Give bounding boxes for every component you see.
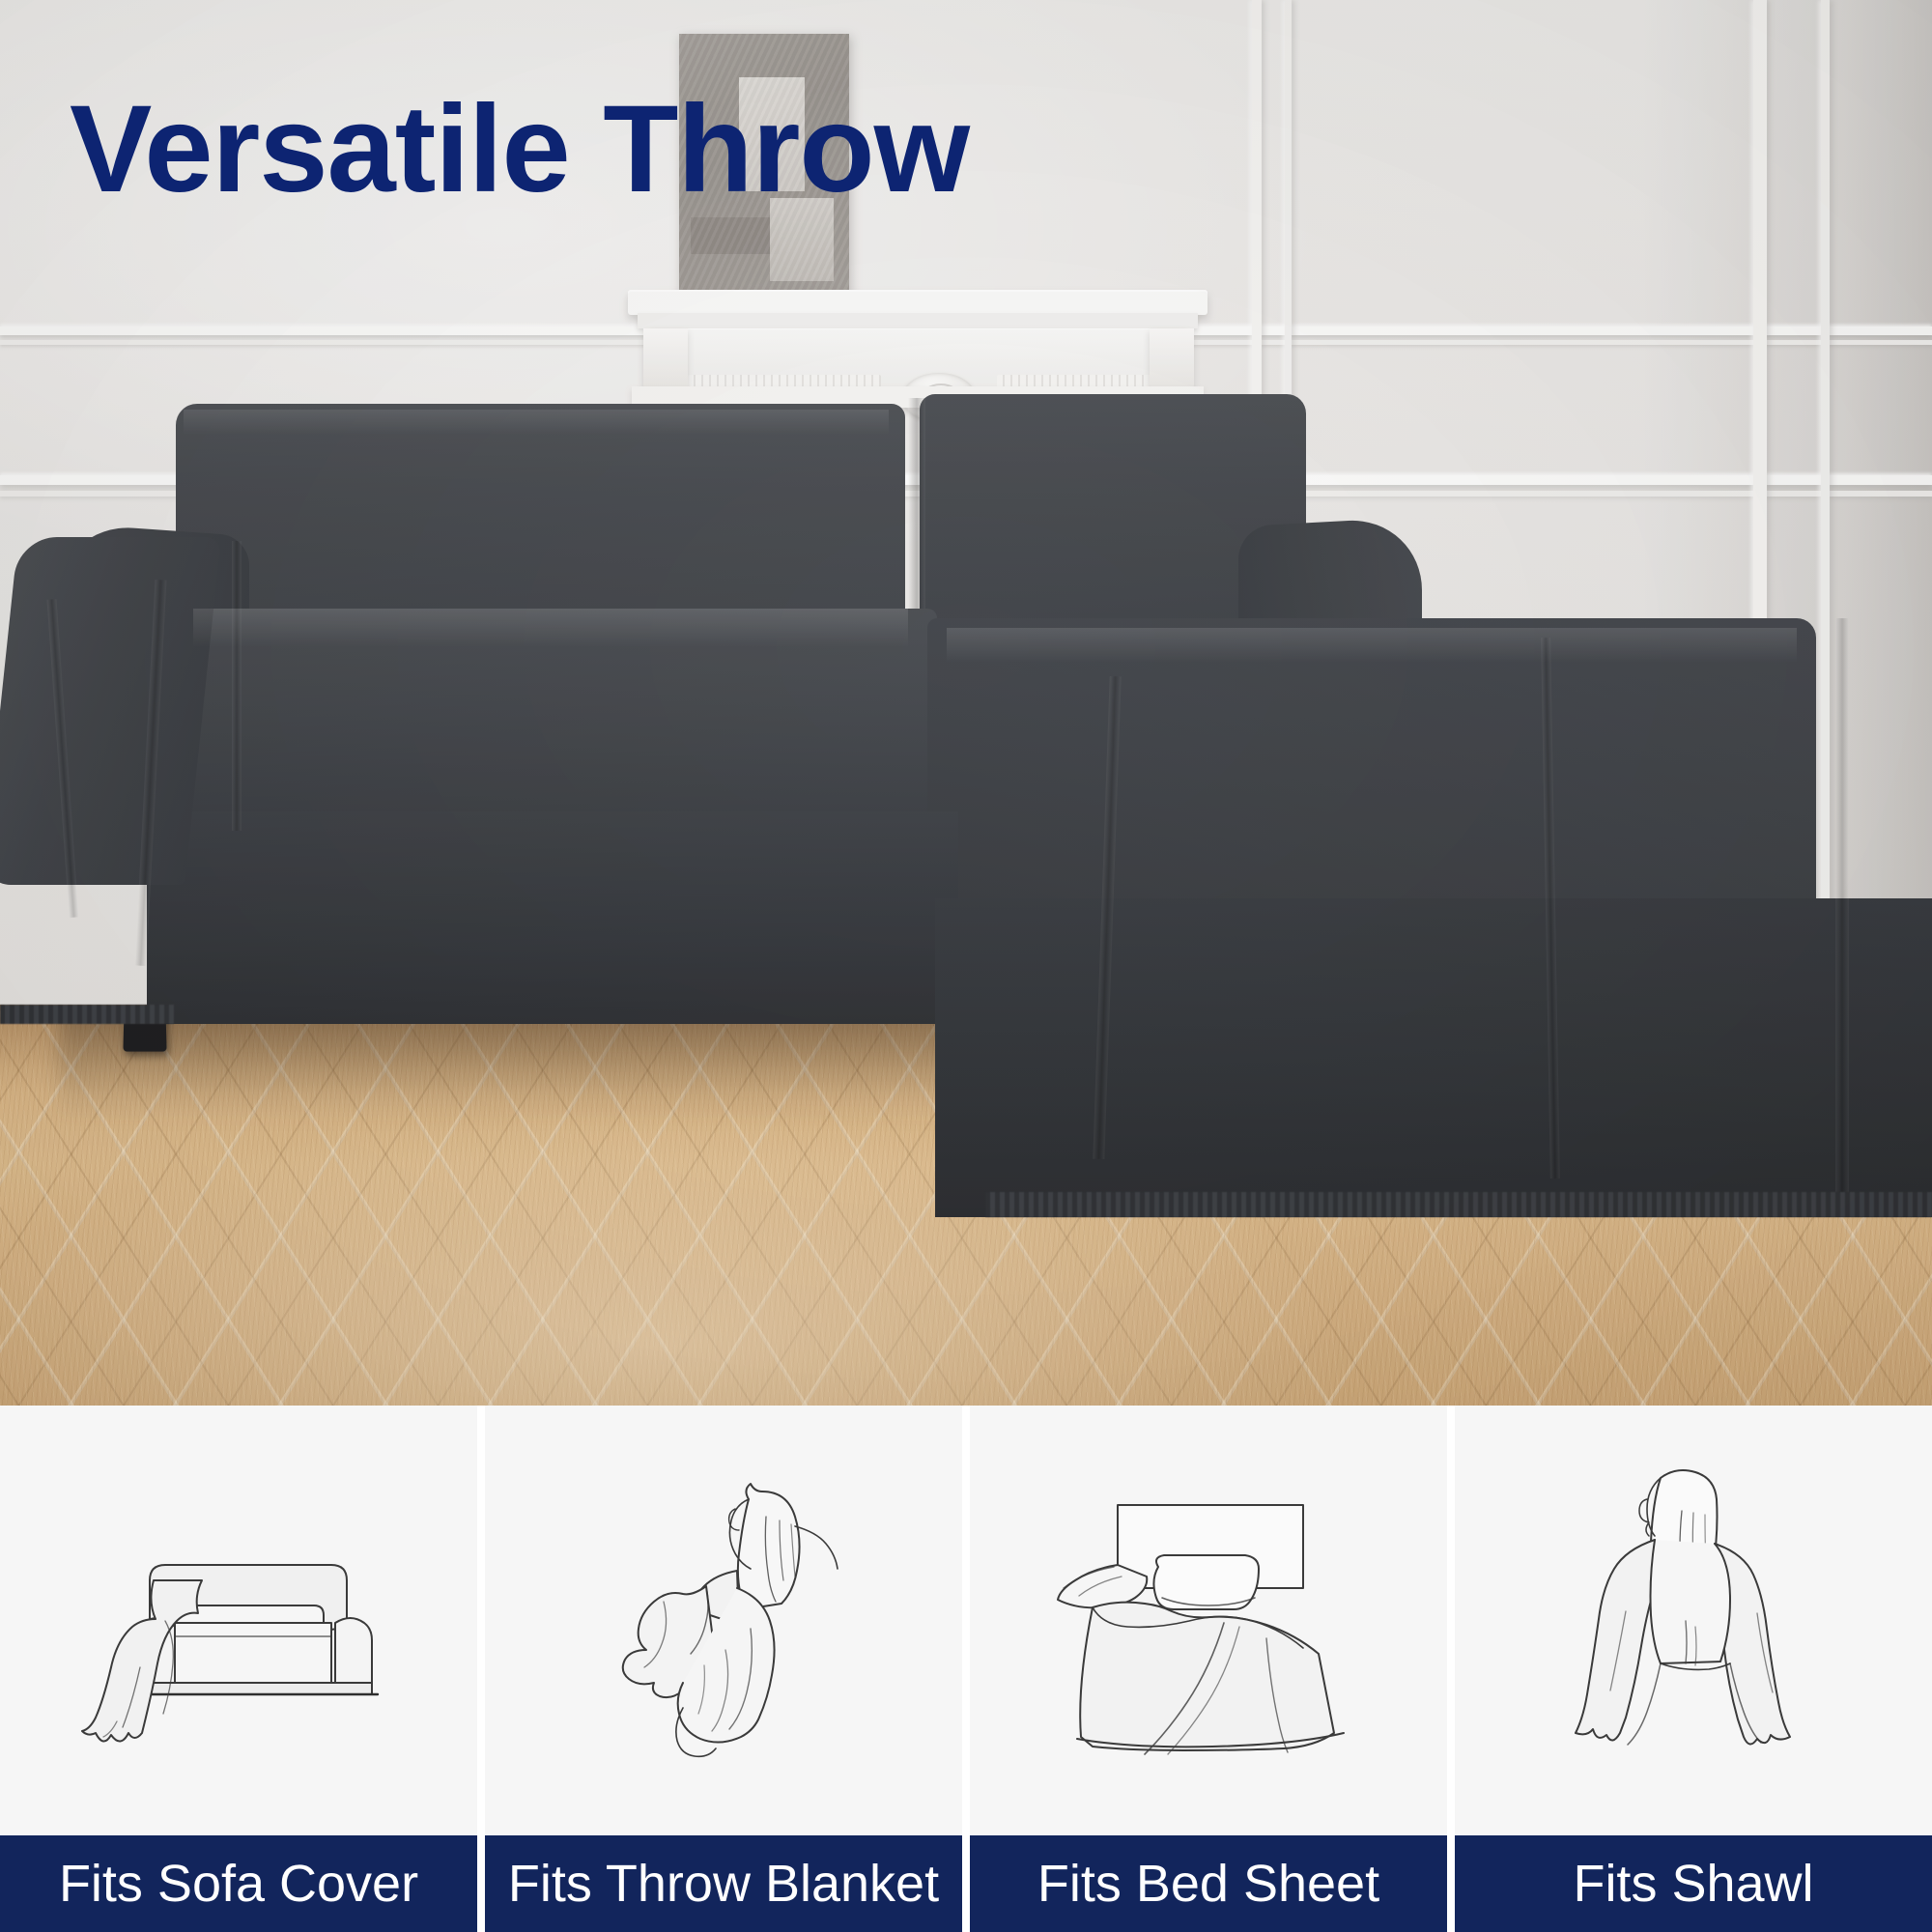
feature-label-bed-sheet: Fits Bed Sheet <box>970 1835 1447 1932</box>
hero-product-photo: Versatile Throw <box>0 0 1932 1406</box>
feature-panel-shawl[interactable]: Fits Shawl <box>1455 1406 1932 1932</box>
feature-panel-sofa-cover[interactable]: Fits Sofa Cover <box>0 1406 477 1932</box>
feature-strip: Fits Sofa Cover <box>0 1406 1932 1932</box>
feature-panel-bed-sheet[interactable]: Fits Bed Sheet <box>970 1406 1447 1932</box>
feature-illustration-bed-sheet <box>970 1406 1447 1835</box>
mantel-corbel-left <box>643 328 688 390</box>
feature-illustration-shawl <box>1455 1406 1932 1835</box>
throw-back-highlight <box>184 410 889 435</box>
throw-fold-1 <box>232 541 241 831</box>
feature-illustration-throw-blanket <box>485 1406 962 1835</box>
page-title: Versatile Throw <box>70 85 969 213</box>
mantel-top-slab <box>628 290 1207 315</box>
sofa-backrest-seam <box>908 398 925 639</box>
mantel-top-shadow <box>638 313 1198 328</box>
feature-panel-throw-blanket[interactable]: Fits Throw Blanket <box>485 1406 962 1932</box>
person-wearing-shawl-icon <box>1548 1457 1838 1785</box>
feature-label-throw-blanket: Fits Throw Blanket <box>485 1835 962 1932</box>
sofa-backrest-left <box>176 404 905 640</box>
throw-seat-highlight-right <box>947 628 1797 663</box>
wall-pilaster-right-inner <box>1821 0 1830 1024</box>
throw-skirt-left <box>147 811 958 1024</box>
mantel-corbel-right <box>1150 328 1194 390</box>
wall-pilaster-center <box>1252 0 1262 425</box>
bed-with-duvet-icon <box>1035 1476 1382 1766</box>
throw-skirt-right <box>935 898 1932 1217</box>
throw-fold-6 <box>1835 618 1849 1198</box>
sofa-with-throw-icon <box>74 1476 403 1766</box>
product-marketing-image: Versatile Throw <box>0 0 1932 1932</box>
throw-seat-highlight-left <box>193 609 908 647</box>
feature-label-sofa-cover: Fits Sofa Cover <box>0 1835 477 1932</box>
wall-pilaster-center-inner <box>1285 0 1292 425</box>
throw-drape-left <box>0 537 221 885</box>
mantel-frieze <box>649 328 1186 386</box>
throw-fringe-left <box>0 1005 174 1024</box>
person-with-blanket-icon <box>559 1466 888 1776</box>
throw-fringe-right <box>985 1192 1932 1217</box>
feature-label-shawl: Fits Shawl <box>1455 1835 1932 1932</box>
feature-illustration-sofa-cover <box>0 1406 477 1835</box>
